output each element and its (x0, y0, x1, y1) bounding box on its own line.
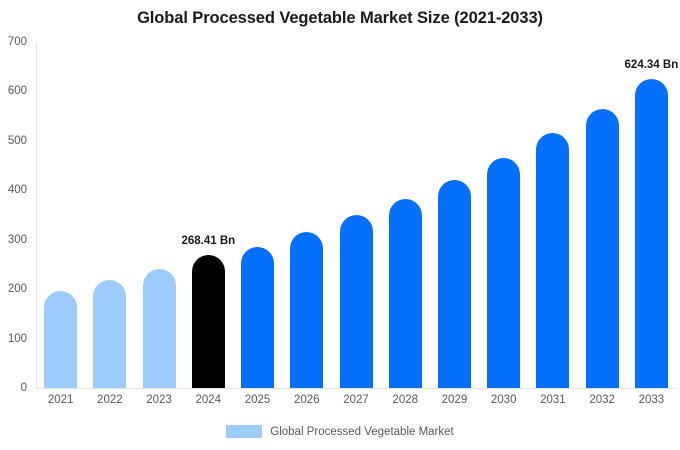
bar-slot (586, 42, 619, 388)
bar[interactable] (635, 79, 668, 388)
x-axis-tick-label: 2022 (93, 394, 126, 406)
bar[interactable] (487, 158, 520, 388)
x-axis-tick-label: 2029 (438, 394, 471, 406)
x-axis-tick-label: 2021 (44, 394, 77, 406)
bar[interactable] (192, 255, 225, 388)
x-axis-tick-label: 2027 (340, 394, 373, 406)
bar-slot: 624.34 Bn (635, 42, 668, 388)
x-axis-tick-label: 2033 (635, 394, 668, 406)
bar[interactable] (93, 280, 126, 388)
x-axis-tick-label: 2026 (290, 394, 323, 406)
bar[interactable] (536, 133, 569, 388)
bar-slot (340, 42, 373, 388)
x-axis-tick-label: 2032 (586, 394, 619, 406)
x-axis-tick-label: 2030 (487, 394, 520, 406)
bar-slot (143, 42, 176, 388)
bar[interactable] (389, 199, 422, 388)
bar-slot (389, 42, 422, 388)
bar-slot (487, 42, 520, 388)
bar[interactable] (340, 215, 373, 388)
y-axis-tick-label: 600 (8, 85, 36, 97)
bar[interactable] (290, 232, 323, 388)
bar[interactable] (586, 109, 619, 388)
bar[interactable] (44, 291, 77, 388)
y-axis-tick-label: 700 (8, 36, 36, 48)
bar-slot (536, 42, 569, 388)
bar-slot (44, 42, 77, 388)
bar-value-label: 268.41 Bn (181, 235, 235, 247)
bar-slot: 268.41 Bn (192, 42, 225, 388)
x-axis-tick-label: 2028 (389, 394, 422, 406)
y-axis-tick-label: 0 (21, 382, 36, 394)
bar[interactable] (143, 269, 176, 388)
legend-item[interactable]: Global Processed Vegetable Market (226, 425, 453, 438)
chart-title: Global Processed Vegetable Market Size (… (0, 9, 680, 28)
x-axis-tick-label: 2031 (536, 394, 569, 406)
legend-item-label: Global Processed Vegetable Market (270, 426, 453, 438)
x-axis-tick-label: 2024 (192, 394, 225, 406)
bar-slot (438, 42, 471, 388)
bar-value-label: 624.34 Bn (625, 59, 679, 71)
chart-legend: Global Processed Vegetable Market (0, 425, 680, 438)
bar-slot (241, 42, 274, 388)
legend-swatch-icon (226, 425, 262, 438)
chart-container: Global Processed Vegetable Market Size (… (0, 0, 680, 450)
y-axis-tick-label: 100 (8, 333, 36, 345)
bar-slot (93, 42, 126, 388)
plot-area: 0100200300400500600700268.41 Bn624.34 Bn (36, 42, 676, 388)
x-axis-tick-label: 2025 (241, 394, 274, 406)
y-axis-tick-label: 500 (8, 135, 36, 147)
x-axis-tick-label: 2023 (143, 394, 176, 406)
bar[interactable] (241, 247, 274, 388)
x-axis-line (36, 388, 676, 389)
bar-slot (290, 42, 323, 388)
bar[interactable] (438, 180, 471, 388)
y-axis-tick-label: 300 (8, 234, 36, 246)
y-axis-tick-label: 400 (8, 184, 36, 196)
y-axis-tick-label: 200 (8, 283, 36, 295)
